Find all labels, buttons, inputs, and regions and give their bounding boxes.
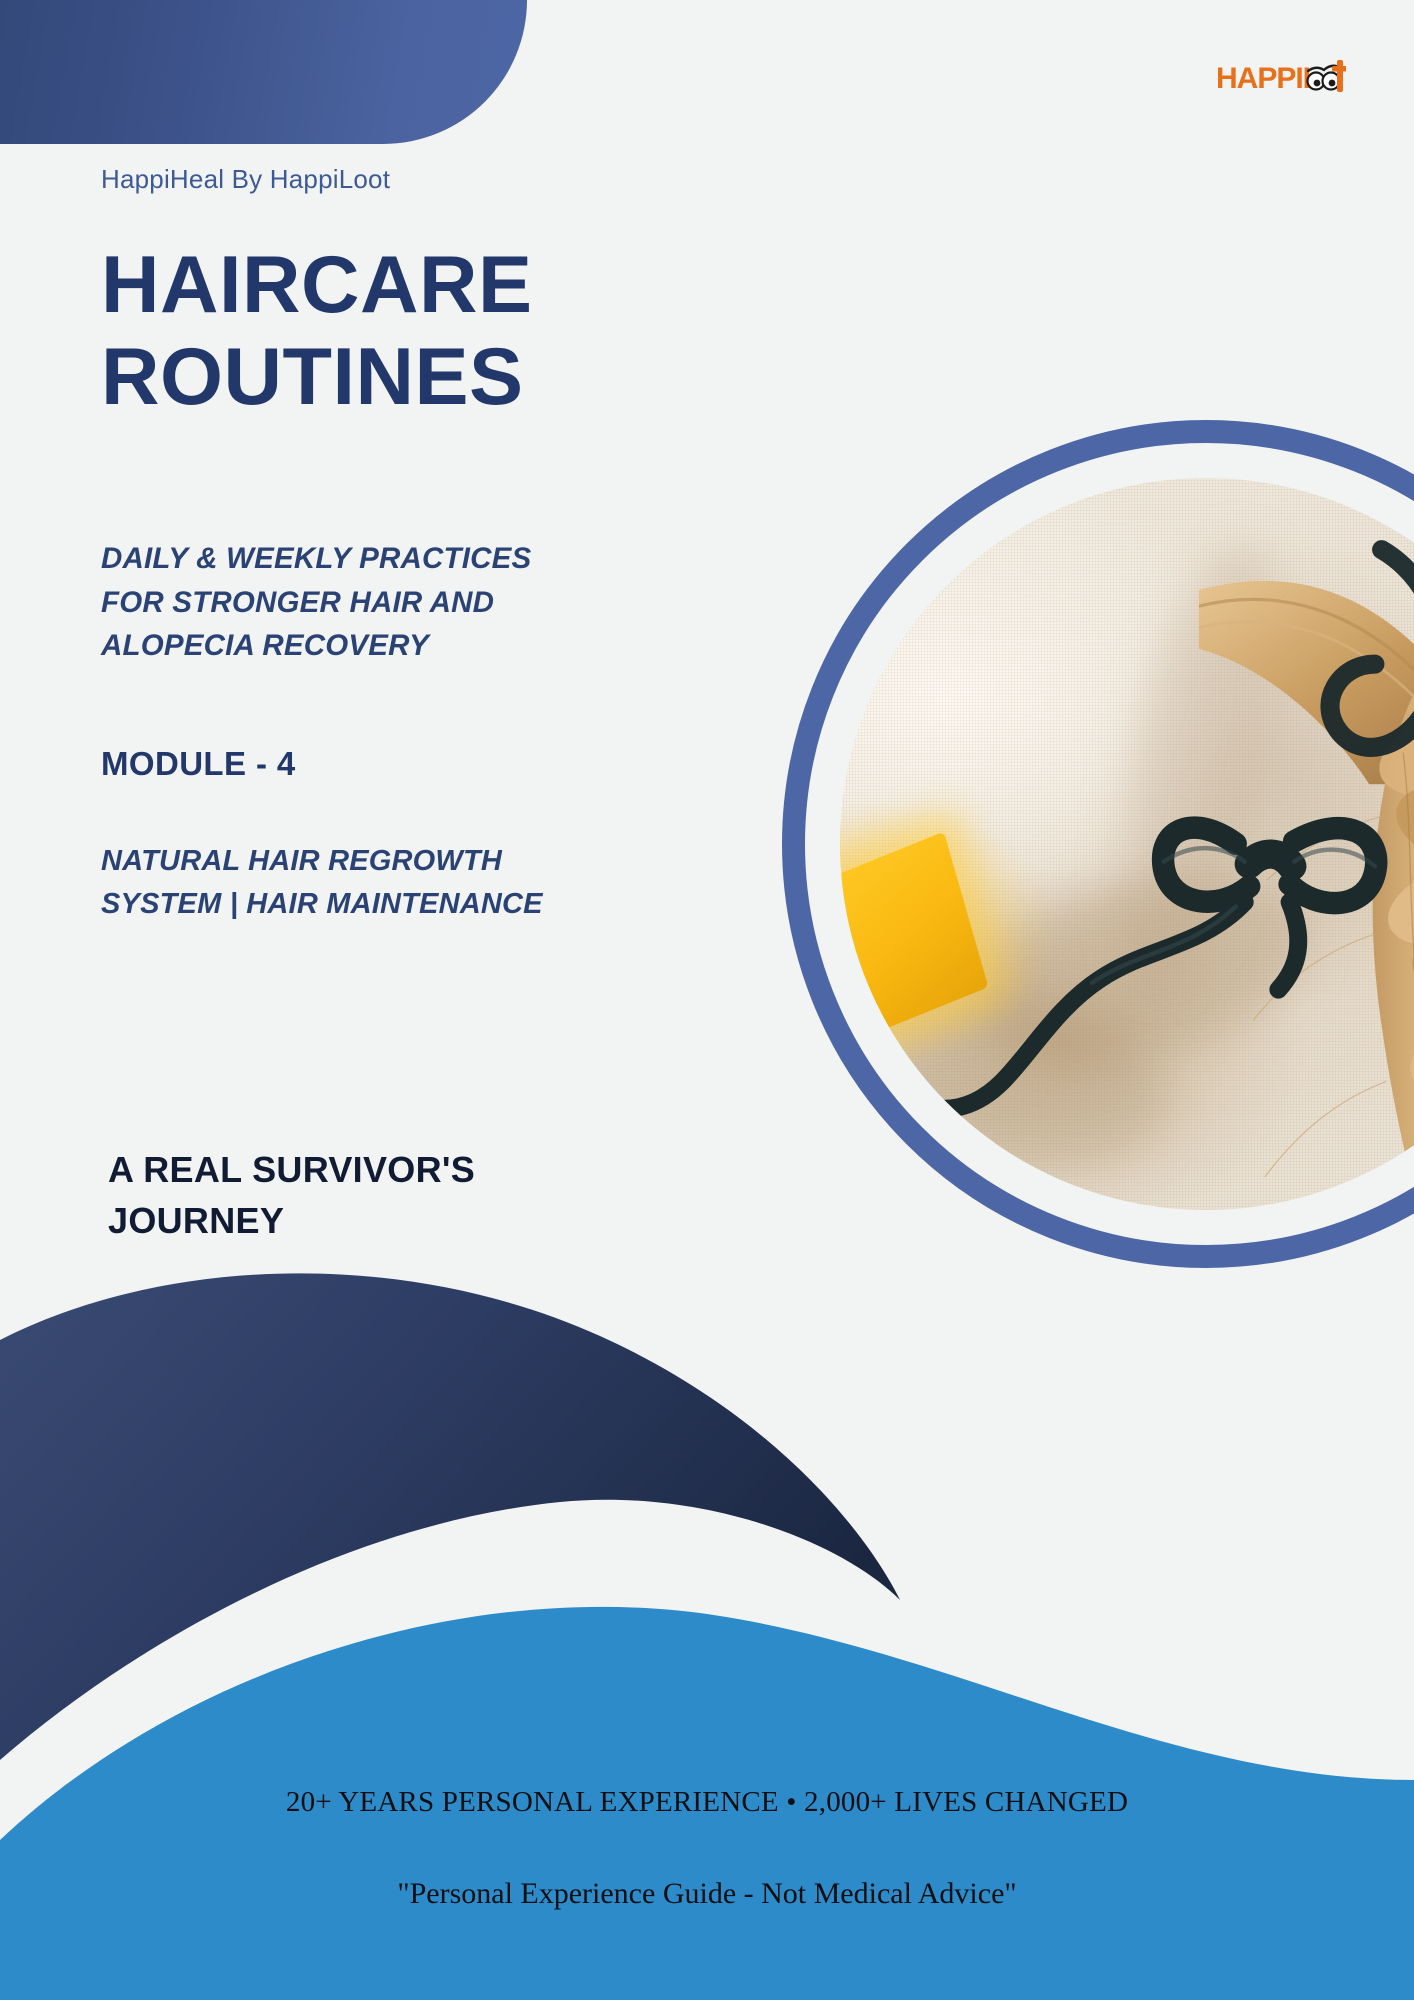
- title-line-1: HAIRCARE: [101, 240, 741, 332]
- braided-hair-photo: [840, 478, 1414, 1210]
- subtitle-line-2: FOR STRONGER HAIR AND: [101, 581, 701, 625]
- happiloot-logo[interactable]: HAPPIL: [1216, 52, 1346, 98]
- ribbon-bow-illustration: [899, 507, 1414, 1180]
- system-line-1: NATURAL HAIR REGROWTH: [101, 840, 701, 883]
- page-title: HAIRCARE ROUTINES: [101, 240, 741, 423]
- system-line-2: SYSTEM | HAIR MAINTENANCE: [101, 883, 701, 926]
- brand-line: HappiHeal By HappiLoot: [101, 164, 390, 195]
- top-left-decorative-block: [0, 0, 527, 144]
- system-subtitle: NATURAL HAIR REGROWTH SYSTEM | HAIR MAIN…: [101, 840, 701, 925]
- title-line-2: ROUTINES: [101, 332, 741, 424]
- subtitle-line-3: ALOPECIA RECOVERY: [101, 624, 701, 668]
- cover-subtitle: DAILY & WEEKLY PRACTICES FOR STRONGER HA…: [101, 537, 701, 668]
- journey-tagline: A REAL SURVIVOR'S JOURNEY: [108, 1144, 628, 1246]
- svg-text:HAPPIL: HAPPIL: [1216, 62, 1321, 95]
- disclaimer-text: "Personal Experience Guide - Not Medical…: [0, 1877, 1414, 1911]
- module-label: MODULE - 4: [101, 745, 296, 783]
- journey-line-1: A REAL SURVIVOR'S: [108, 1144, 628, 1195]
- journey-line-2: JOURNEY: [108, 1195, 628, 1246]
- ebook-cover-page: HAPPIL HappiHeal By HappiLoot HAIRCARE R…: [0, 0, 1414, 2000]
- subtitle-line-1: DAILY & WEEKLY PRACTICES: [101, 537, 701, 581]
- credentials-text: 20+ YEARS PERSONAL EXPERIENCE • 2,000+ L…: [0, 1786, 1414, 1819]
